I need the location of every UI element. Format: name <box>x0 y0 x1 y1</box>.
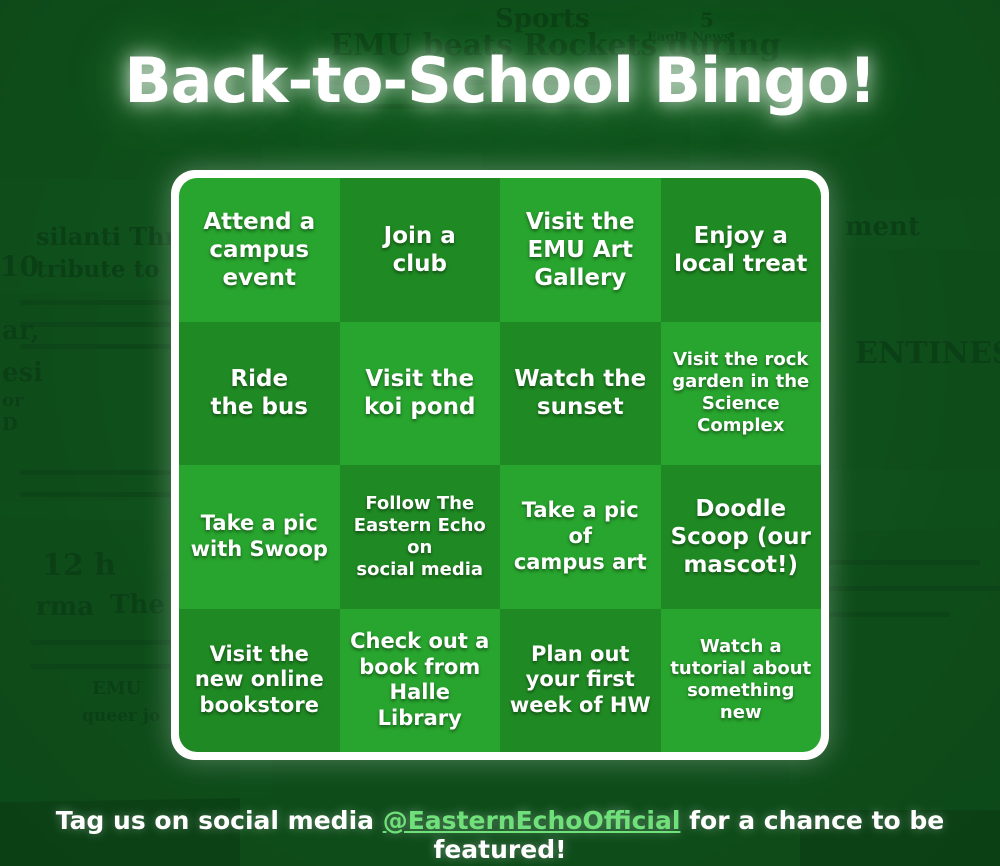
bingo-cell[interactable]: Visit the rock garden in the Science Com… <box>661 322 822 466</box>
bingo-cell-label: Visit the EMU Art Gallery <box>508 208 653 292</box>
bingo-cell-label: Attend a campus event <box>187 208 332 292</box>
bingo-cell-label: Take a pic of campus art <box>508 498 653 575</box>
bingo-cell[interactable]: Check out a book from Halle Library <box>340 609 501 753</box>
footer-text-before: Tag us on social media <box>56 806 383 835</box>
bingo-cell-label: Follow The Eastern Echo on social media <box>348 493 493 581</box>
bingo-cell-label: Take a pic with Swoop <box>187 511 332 562</box>
bingo-cell[interactable]: Take a pic of campus art <box>500 465 661 609</box>
bingo-cell-label: Plan out your first week of HW <box>508 642 653 719</box>
bingo-cell-label: Check out a book from Halle Library <box>348 629 493 731</box>
bingo-cell[interactable]: Visit the koi pond <box>340 322 501 466</box>
bingo-cell-label: Doodle Scoop (our mascot!) <box>669 495 814 579</box>
bingo-cell[interactable]: Follow The Eastern Echo on social media <box>340 465 501 609</box>
bingo-cell-label: Join a club <box>348 222 493 278</box>
bingo-cell[interactable]: Plan out your first week of HW <box>500 609 661 753</box>
bingo-cell[interactable]: Watch a tutorial about something new <box>661 609 822 753</box>
bingo-cell[interactable]: Visit the new online bookstore <box>179 609 340 753</box>
page-title: Back-to-School Bingo! <box>0 44 1000 117</box>
bingo-grid: Attend a campus eventJoin a clubVisit th… <box>179 178 821 752</box>
bingo-poster: SportsEMU beats Rockets duringEagle News… <box>0 0 1000 866</box>
bingo-card: Attend a campus eventJoin a clubVisit th… <box>171 170 829 760</box>
bingo-cell[interactable]: Watch the sunset <box>500 322 661 466</box>
bingo-cell[interactable]: Ride the bus <box>179 322 340 466</box>
social-handle-link[interactable]: @EasternEchoOfficial <box>383 806 681 835</box>
bingo-cell-label: Enjoy a local treat <box>669 222 814 278</box>
bingo-cell-label: Watch a tutorial about something new <box>669 636 814 724</box>
bingo-cell[interactable]: Visit the EMU Art Gallery <box>500 178 661 322</box>
bingo-cell[interactable]: Doodle Scoop (our mascot!) <box>661 465 822 609</box>
bingo-cell[interactable]: Enjoy a local treat <box>661 178 822 322</box>
bingo-cell[interactable]: Join a club <box>340 178 501 322</box>
bingo-cell[interactable]: Attend a campus event <box>179 178 340 322</box>
footer-callout: Tag us on social media @EasternEchoOffic… <box>0 806 1000 864</box>
bingo-cell-label: Visit the rock garden in the Science Com… <box>669 349 814 437</box>
bingo-cell-label: Visit the koi pond <box>348 365 493 421</box>
bingo-cell-label: Visit the new online bookstore <box>187 642 332 719</box>
bingo-cell[interactable]: Take a pic with Swoop <box>179 465 340 609</box>
bingo-cell-label: Watch the sunset <box>508 365 653 421</box>
bingo-cell-label: Ride the bus <box>187 365 332 421</box>
